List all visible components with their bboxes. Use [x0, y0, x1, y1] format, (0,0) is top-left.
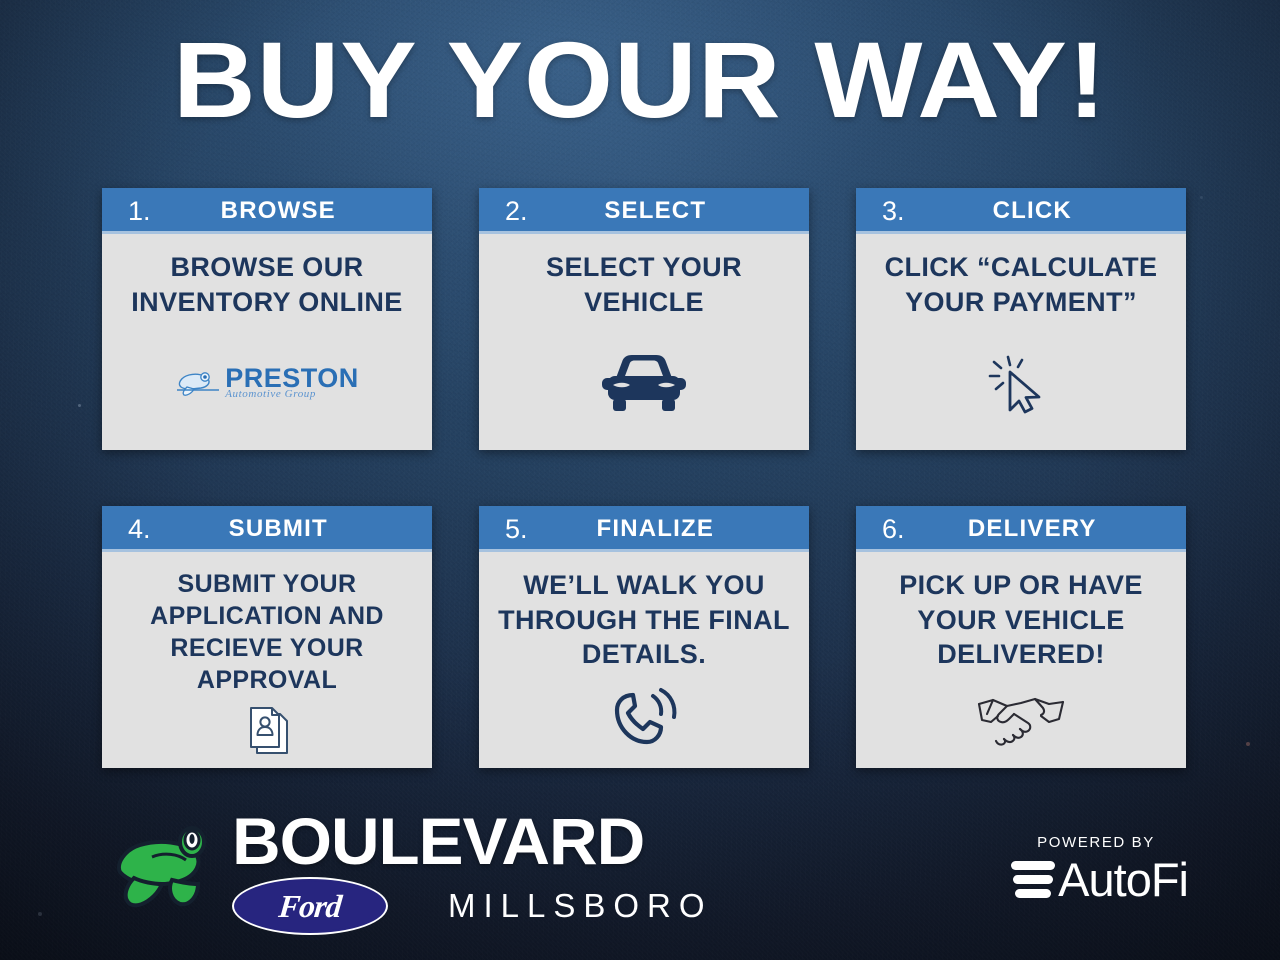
preston-logo-icon: PRESTON Automotive Group [112, 319, 422, 442]
step-label: FINALIZE [528, 515, 797, 543]
step-number: 2. [505, 198, 528, 225]
step-number: 1. [128, 198, 151, 225]
page-title: BUY YOUR WAY! [0, 26, 1280, 134]
autofi-logo-text: AutoFi [1058, 856, 1188, 903]
document-person-icon [112, 696, 422, 760]
step-description: BROWSE OUR INVENTORY ONLINE [112, 250, 422, 319]
step-card-header: 6. DELIVERY [856, 506, 1186, 552]
step-card-select[interactable]: 2. SELECT SELECT YOUR VEHICLE [479, 188, 809, 450]
step-label: CLICK [905, 197, 1174, 225]
autofi-badge[interactable]: POWERED BY AutoFi [1011, 834, 1188, 903]
step-label: SELECT [528, 197, 797, 225]
step-number: 3. [882, 198, 905, 225]
boulevard-ford-logo[interactable]: BOULEVARD Ford MILLSBORO [112, 810, 713, 935]
phone-ringing-icon [489, 672, 799, 760]
steps-grid: 1. BROWSE BROWSE OUR INVENTORY ONLINE [102, 188, 1186, 768]
dealer-name: BOULEVARD [232, 810, 722, 873]
dealer-location: MILLSBORO [448, 887, 713, 925]
step-card-click[interactable]: 3. CLICK CLICK “CALCULATE YOUR PAYMENT” [856, 188, 1186, 450]
step-card-header: 2. SELECT [479, 188, 809, 234]
step-number: 6. [882, 516, 905, 543]
step-card-finalize[interactable]: 5. FINALIZE WE’LL WALK YOU THROUGH THE F… [479, 506, 809, 768]
preston-frog-icon [175, 368, 221, 398]
step-card-submit[interactable]: 4. SUBMIT SUBMIT YOUR APPLICATION AND RE… [102, 506, 432, 768]
step-label: SUBMIT [151, 515, 420, 543]
step-card-body: SELECT YOUR VEHICLE [479, 234, 809, 450]
step-card-header: 1. BROWSE [102, 188, 432, 234]
ford-logo-icon: Ford [232, 877, 388, 935]
step-card-body: SUBMIT YOUR APPLICATION AND RECIEVE YOUR… [102, 552, 432, 768]
step-label: BROWSE [151, 197, 420, 225]
ford-logo-text: Ford [277, 888, 343, 925]
step-description: WE’LL WALK YOU THROUGH THE FINAL DETAILS… [489, 568, 799, 672]
step-card-body: WE’LL WALK YOU THROUGH THE FINAL DETAILS… [479, 552, 809, 768]
step-card-header: 3. CLICK [856, 188, 1186, 234]
footer: BOULEVARD Ford MILLSBORO POWERED BY Auto… [0, 800, 1280, 960]
powered-by-label: POWERED BY [1037, 834, 1188, 851]
cursor-click-icon [866, 319, 1176, 442]
step-description: SELECT YOUR VEHICLE [489, 250, 799, 319]
handshake-icon [866, 672, 1176, 760]
step-description: PICK UP OR HAVE YOUR VEHICLE DELIVERED! [866, 568, 1176, 672]
step-description: SUBMIT YOUR APPLICATION AND RECIEVE YOUR… [112, 568, 422, 696]
autofi-bars-icon [1011, 861, 1055, 898]
step-card-body: PICK UP OR HAVE YOUR VEHICLE DELIVERED! [856, 552, 1186, 768]
step-number: 5. [505, 516, 528, 543]
frog-logo-icon [112, 824, 220, 910]
car-icon [489, 319, 799, 442]
preston-logo-subtext: Automotive Group [225, 389, 316, 400]
step-card-delivery[interactable]: 6. DELIVERY PICK UP OR HAVE YOUR VEHICLE… [856, 506, 1186, 768]
step-card-browse[interactable]: 1. BROWSE BROWSE OUR INVENTORY ONLINE [102, 188, 432, 450]
step-label: DELIVERY [905, 515, 1174, 543]
step-card-body: CLICK “CALCULATE YOUR PAYMENT” [856, 234, 1186, 450]
step-card-header: 5. FINALIZE [479, 506, 809, 552]
step-card-header: 4. SUBMIT [102, 506, 432, 552]
step-card-body: BROWSE OUR INVENTORY ONLINE PRESTON Au [102, 234, 432, 450]
step-number: 4. [128, 516, 151, 543]
step-description: CLICK “CALCULATE YOUR PAYMENT” [866, 250, 1176, 319]
